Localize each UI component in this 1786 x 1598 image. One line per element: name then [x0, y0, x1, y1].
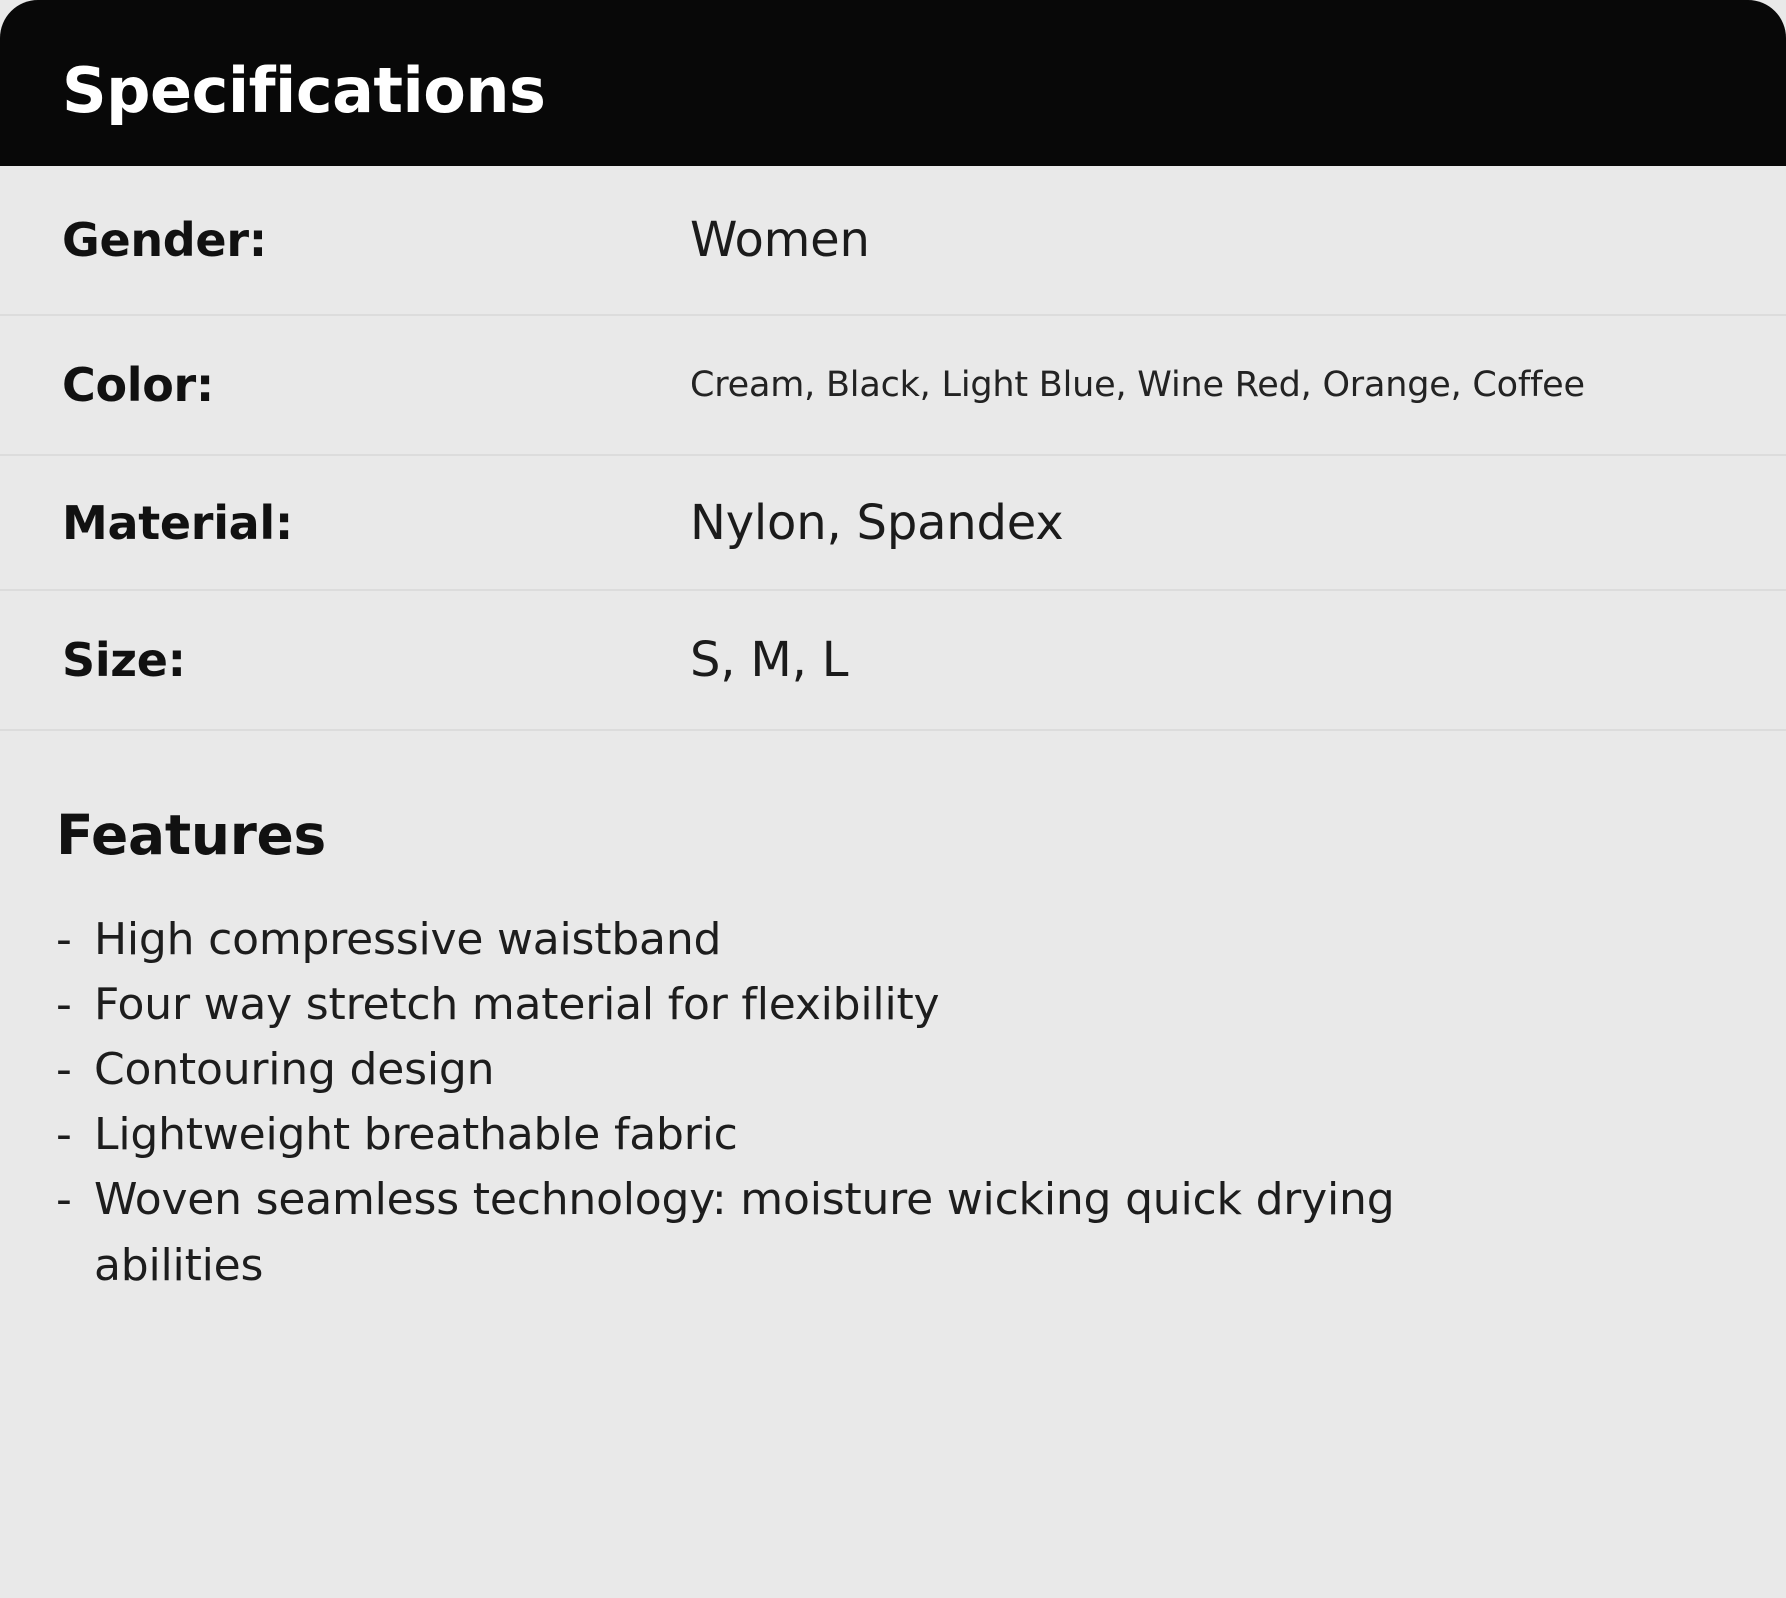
spec-label-gender: Gender: [62, 213, 690, 267]
spec-value-gender: Women [690, 212, 870, 268]
bullet-dash-icon: - [56, 1037, 94, 1102]
table-row: Size: S, M, L [0, 591, 1786, 731]
features-list: - High compressive waistband - Four way … [56, 907, 1730, 1298]
table-row: Color: Cream, Black, Light Blue, Wine Re… [0, 316, 1786, 456]
bullet-dash-icon: - [56, 907, 94, 972]
specifications-card: Specifications Gender: Women Color: Crea… [0, 0, 1786, 1598]
feature-text: High compressive waistband [94, 907, 1424, 972]
features-section: Features - High compressive waistband - … [0, 731, 1786, 1298]
feature-text: Contouring design [94, 1037, 1424, 1102]
card-header: Specifications [0, 0, 1786, 166]
features-heading: Features [56, 803, 1730, 867]
spec-label-size: Size: [62, 633, 690, 687]
list-item: - Contouring design [56, 1037, 1730, 1102]
feature-text: Four way stretch material for flexibilit… [94, 972, 1424, 1037]
list-item: - Woven seamless technology: moisture wi… [56, 1167, 1730, 1297]
list-item: - Lightweight breathable fabric [56, 1102, 1730, 1167]
bullet-dash-icon: - [56, 1167, 94, 1232]
feature-text: Woven seamless technology: moisture wick… [94, 1167, 1424, 1297]
spec-value-color: Cream, Black, Light Blue, Wine Red, Oran… [690, 365, 1585, 405]
list-item: - Four way stretch material for flexibil… [56, 972, 1730, 1037]
spec-label-color: Color: [62, 358, 690, 412]
bullet-dash-icon: - [56, 972, 94, 1037]
specification-table: Gender: Women Color: Cream, Black, Light… [0, 166, 1786, 731]
table-row: Material: Nylon, Spandex [0, 456, 1786, 591]
list-item: - High compressive waistband [56, 907, 1730, 972]
page-title: Specifications [62, 60, 545, 122]
spec-value-material: Nylon, Spandex [690, 495, 1064, 551]
table-row: Gender: Women [0, 166, 1786, 316]
bullet-dash-icon: - [56, 1102, 94, 1167]
feature-text: Lightweight breathable fabric [94, 1102, 1424, 1167]
spec-label-material: Material: [62, 496, 690, 550]
spec-value-size: S, M, L [690, 632, 848, 688]
